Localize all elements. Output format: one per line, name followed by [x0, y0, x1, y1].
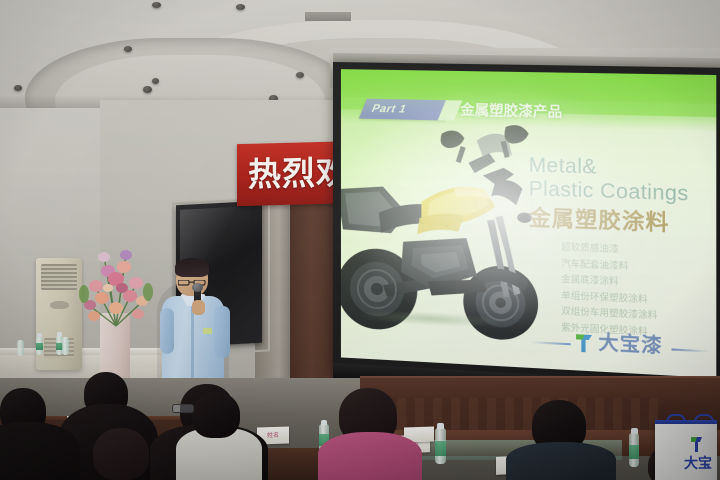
microphone-head	[192, 283, 203, 292]
audience-head	[93, 428, 149, 480]
spotlight-icon	[236, 4, 245, 10]
water-bottle-icon	[62, 337, 69, 355]
water-bottle-icon	[17, 340, 24, 356]
spotlight-icon	[152, 2, 161, 8]
side-counter-top	[0, 348, 175, 355]
bottle-label	[629, 445, 639, 459]
gift-bag-brand-text: 大宝	[684, 456, 720, 472]
bottle-cap	[321, 420, 327, 425]
air-conditioner-grille	[41, 264, 77, 290]
bottle-label	[36, 343, 43, 350]
bottle-cap	[37, 333, 42, 337]
spotlight-icon	[143, 86, 152, 93]
slide-bullet-list: 超软质感油漆 汽车配套油漆料 金属底漆涂料 单组份环保塑胶涂料 双组份车用塑胶漆…	[561, 241, 712, 345]
slide-logo-text: 大宝漆	[598, 332, 673, 358]
bottle-cap	[437, 423, 444, 429]
air-vent-icon	[305, 12, 351, 21]
bouquet-icon	[78, 248, 156, 328]
speaker-pocket-badge	[203, 328, 212, 334]
slide-section-title: 金属塑胶漆产品	[460, 101, 650, 126]
spotlight-icon	[152, 78, 159, 84]
bottle-cap	[57, 332, 62, 336]
taiho-t-mark-icon	[690, 436, 703, 453]
slide-footer-rule-left	[531, 341, 571, 345]
projection-screen-icon[interactable]: Part 1 金属塑胶漆产品	[333, 62, 720, 410]
slide-headline-cn: 金属塑胶涂料	[529, 201, 717, 239]
presentation-slide: Part 1 金属塑胶漆产品	[341, 69, 716, 378]
audience-shoulders	[318, 432, 422, 480]
taiho-t-mark-icon	[575, 332, 593, 354]
bottle-label	[435, 441, 446, 456]
speaker-hand	[192, 300, 205, 315]
spotlight-icon	[14, 85, 22, 91]
spotlight-icon	[124, 46, 132, 52]
audience-glasses	[172, 404, 194, 413]
speaker-arm-right	[214, 306, 230, 358]
air-conditioner-badge	[50, 301, 69, 309]
slide-part-label: Part 1	[368, 100, 449, 121]
speaker-arm-left	[160, 308, 174, 354]
slide-footer-rule-right	[672, 348, 709, 352]
spotlight-icon	[296, 72, 304, 78]
speaker-glasses	[178, 273, 206, 279]
audience-shoulders	[506, 442, 616, 480]
audience-shoulders	[0, 422, 80, 480]
audience-head	[192, 392, 240, 438]
bottle-cap	[631, 428, 638, 434]
conference-room-photo: 热烈欢迎 开 Part 1 金属塑胶漆产品	[0, 0, 720, 480]
